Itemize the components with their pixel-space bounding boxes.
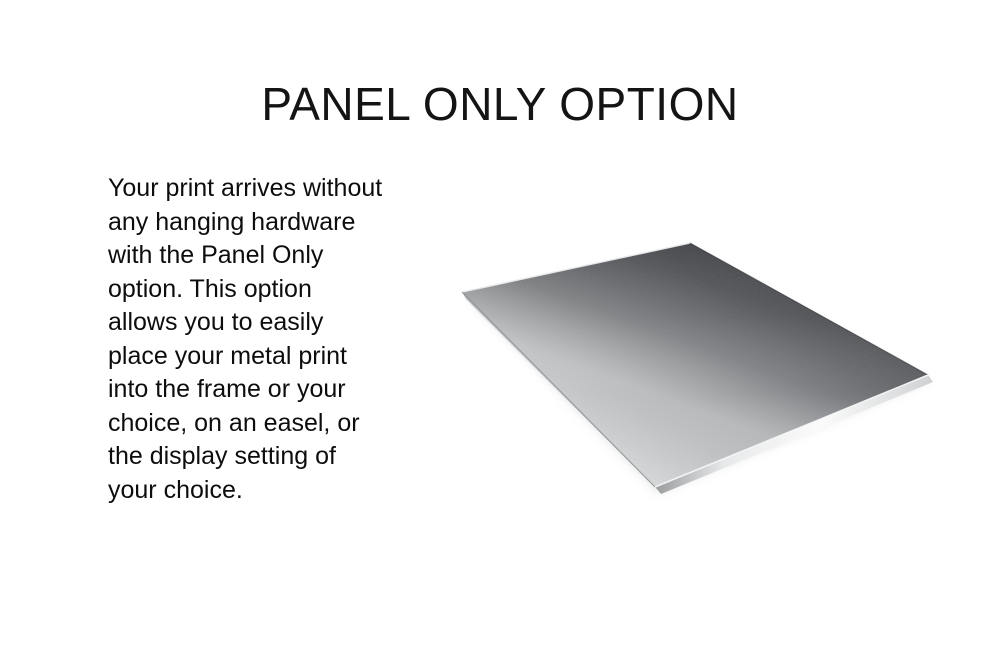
body-copy-block: Your print arrives without any hanging h… — [108, 172, 408, 507]
body-copy-line: into the frame or your — [108, 373, 408, 407]
body-copy-line: allows you to easily — [108, 306, 408, 340]
body-copy-line: choice, on an easel, or — [108, 407, 408, 441]
body-copy-line: option. This option — [108, 273, 408, 307]
slide-canvas: PANEL ONLY OPTION Your print arrives wit… — [0, 0, 1000, 667]
metal-panel-image — [440, 230, 960, 510]
body-copy-line: Your print arrives without — [108, 172, 408, 206]
page-title: PANEL ONLY OPTION — [0, 79, 1000, 130]
body-copy-line: the display setting of — [108, 440, 408, 474]
body-copy-line: any hanging hardware — [108, 206, 408, 240]
body-copy-line: with the Panel Only — [108, 239, 408, 273]
body-copy-line: place your metal print — [108, 340, 408, 374]
body-copy-line: your choice. — [108, 474, 408, 508]
